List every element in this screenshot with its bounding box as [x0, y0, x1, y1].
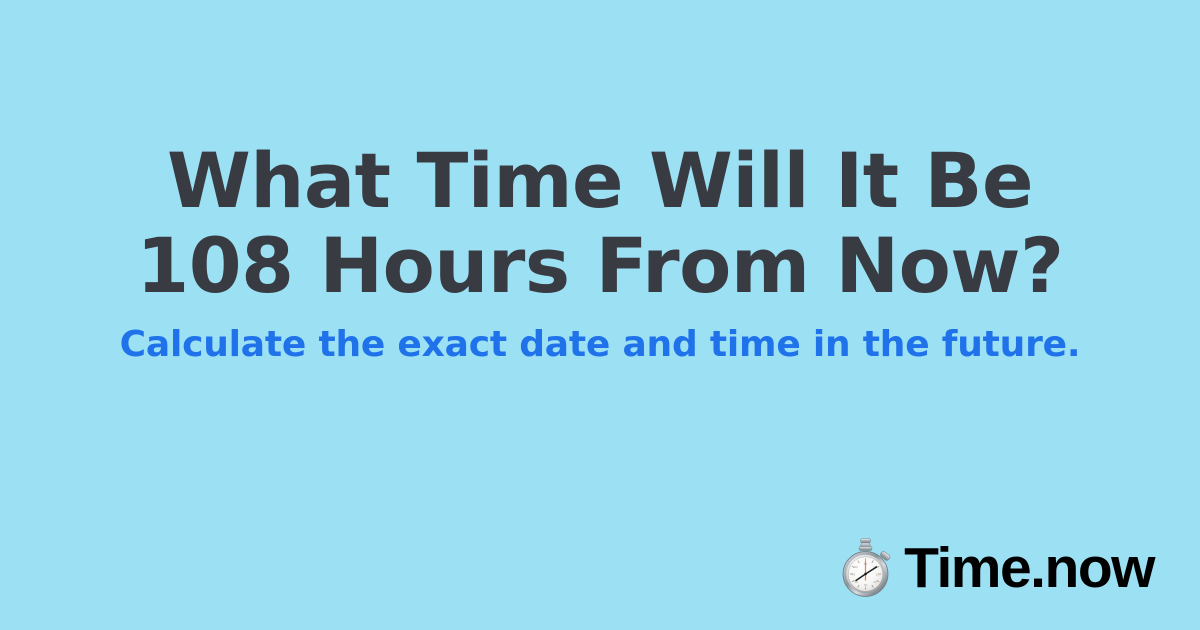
svg-text:45: 45 [852, 573, 856, 577]
svg-text:15: 15 [876, 573, 880, 577]
stopwatch-icon: 60 10 15 20 30 40 45 50 [837, 538, 894, 598]
svg-text:50: 50 [854, 565, 858, 569]
brand-name: Time.now [904, 539, 1154, 597]
share-card: What Time Will It Be 108 Hours From Now?… [0, 0, 1200, 630]
svg-text:30: 30 [864, 583, 868, 587]
brand-logo: 60 10 15 20 30 40 45 50 Time.now [837, 538, 1154, 598]
headline-line-1: What Time Will It Be [0, 138, 1200, 223]
headline-block: What Time Will It Be 108 Hours From Now? [0, 138, 1200, 308]
svg-text:20: 20 [873, 580, 877, 584]
headline-line-2: 108 Hours From Now? [0, 223, 1200, 308]
page-subtitle: Calculate the exact date and time in the… [0, 324, 1200, 366]
page-title: What Time Will It Be 108 Hours From Now? [0, 138, 1200, 308]
